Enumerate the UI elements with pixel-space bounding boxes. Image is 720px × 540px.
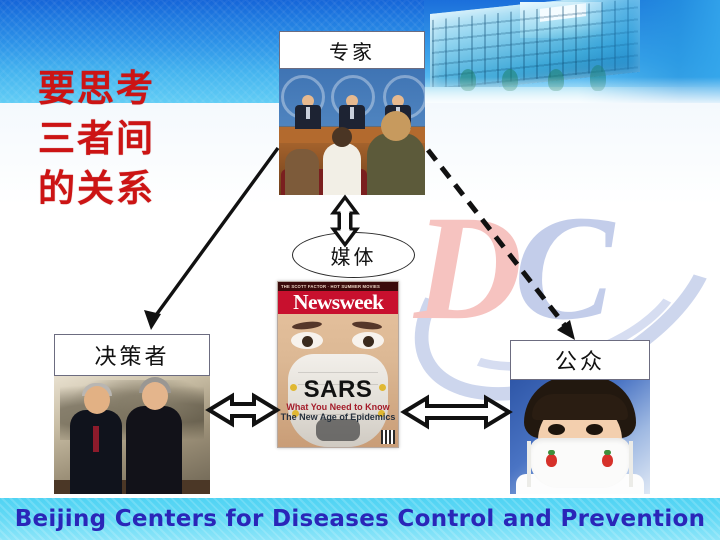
node-media[interactable]: 媒体 bbox=[292, 232, 415, 278]
magazine-cover-photo: SARS What You Need to Know The New Age o… bbox=[278, 314, 398, 447]
node-public-label: 公众 bbox=[510, 340, 650, 380]
headline-line-2: 三者间 bbox=[38, 114, 218, 164]
headquarters-building-photo bbox=[424, 0, 720, 103]
node-decision-maker-label: 决策者 bbox=[54, 334, 210, 376]
magazine-subline-1: What You Need to Know bbox=[278, 402, 398, 412]
page-title: 要思考 三者间 的关系 bbox=[38, 64, 218, 214]
node-decision-maker[interactable]: 决策者 bbox=[54, 334, 210, 494]
cdc-watermark-logo: D C bbox=[392, 185, 720, 360]
footer-text: Beijing Centers for Diseases Control and… bbox=[15, 506, 706, 532]
node-public-photo bbox=[510, 380, 650, 494]
magazine-headline: SARS bbox=[278, 376, 398, 404]
magazine-banner-text: THE SCOTT FACTOR · HOT SUMMER MOVIES bbox=[281, 283, 380, 290]
magazine-banner-strip: THE SCOTT FACTOR · HOT SUMMER MOVIES bbox=[278, 282, 398, 291]
headline-line-1: 要思考 bbox=[38, 64, 218, 114]
headline-line-3: 的关系 bbox=[38, 164, 218, 214]
watermark-letter-c: C bbox=[514, 193, 614, 343]
watermark-letter-d: D bbox=[414, 193, 522, 343]
node-decision-maker-photo bbox=[54, 376, 210, 494]
magazine-masthead: Newsweek bbox=[278, 291, 398, 314]
node-expert[interactable]: 专家 bbox=[279, 31, 425, 195]
node-expert-photo bbox=[279, 69, 425, 195]
magazine-subline-2: The New Age of Epidemics bbox=[278, 412, 398, 422]
footer-banner: Beijing Centers for Diseases Control and… bbox=[0, 498, 720, 540]
slide-canvas: D C 要思考 三者间 的关系 专家 决策者 bbox=[0, 0, 720, 540]
newsweek-magazine-cover: THE SCOTT FACTOR · HOT SUMMER MOVIES New… bbox=[277, 281, 399, 448]
node-public[interactable]: 公众 bbox=[510, 340, 650, 494]
node-media-label: 媒体 bbox=[331, 241, 377, 270]
node-expert-label: 专家 bbox=[279, 31, 425, 69]
magazine-masthead-text: Newsweek bbox=[293, 291, 383, 314]
